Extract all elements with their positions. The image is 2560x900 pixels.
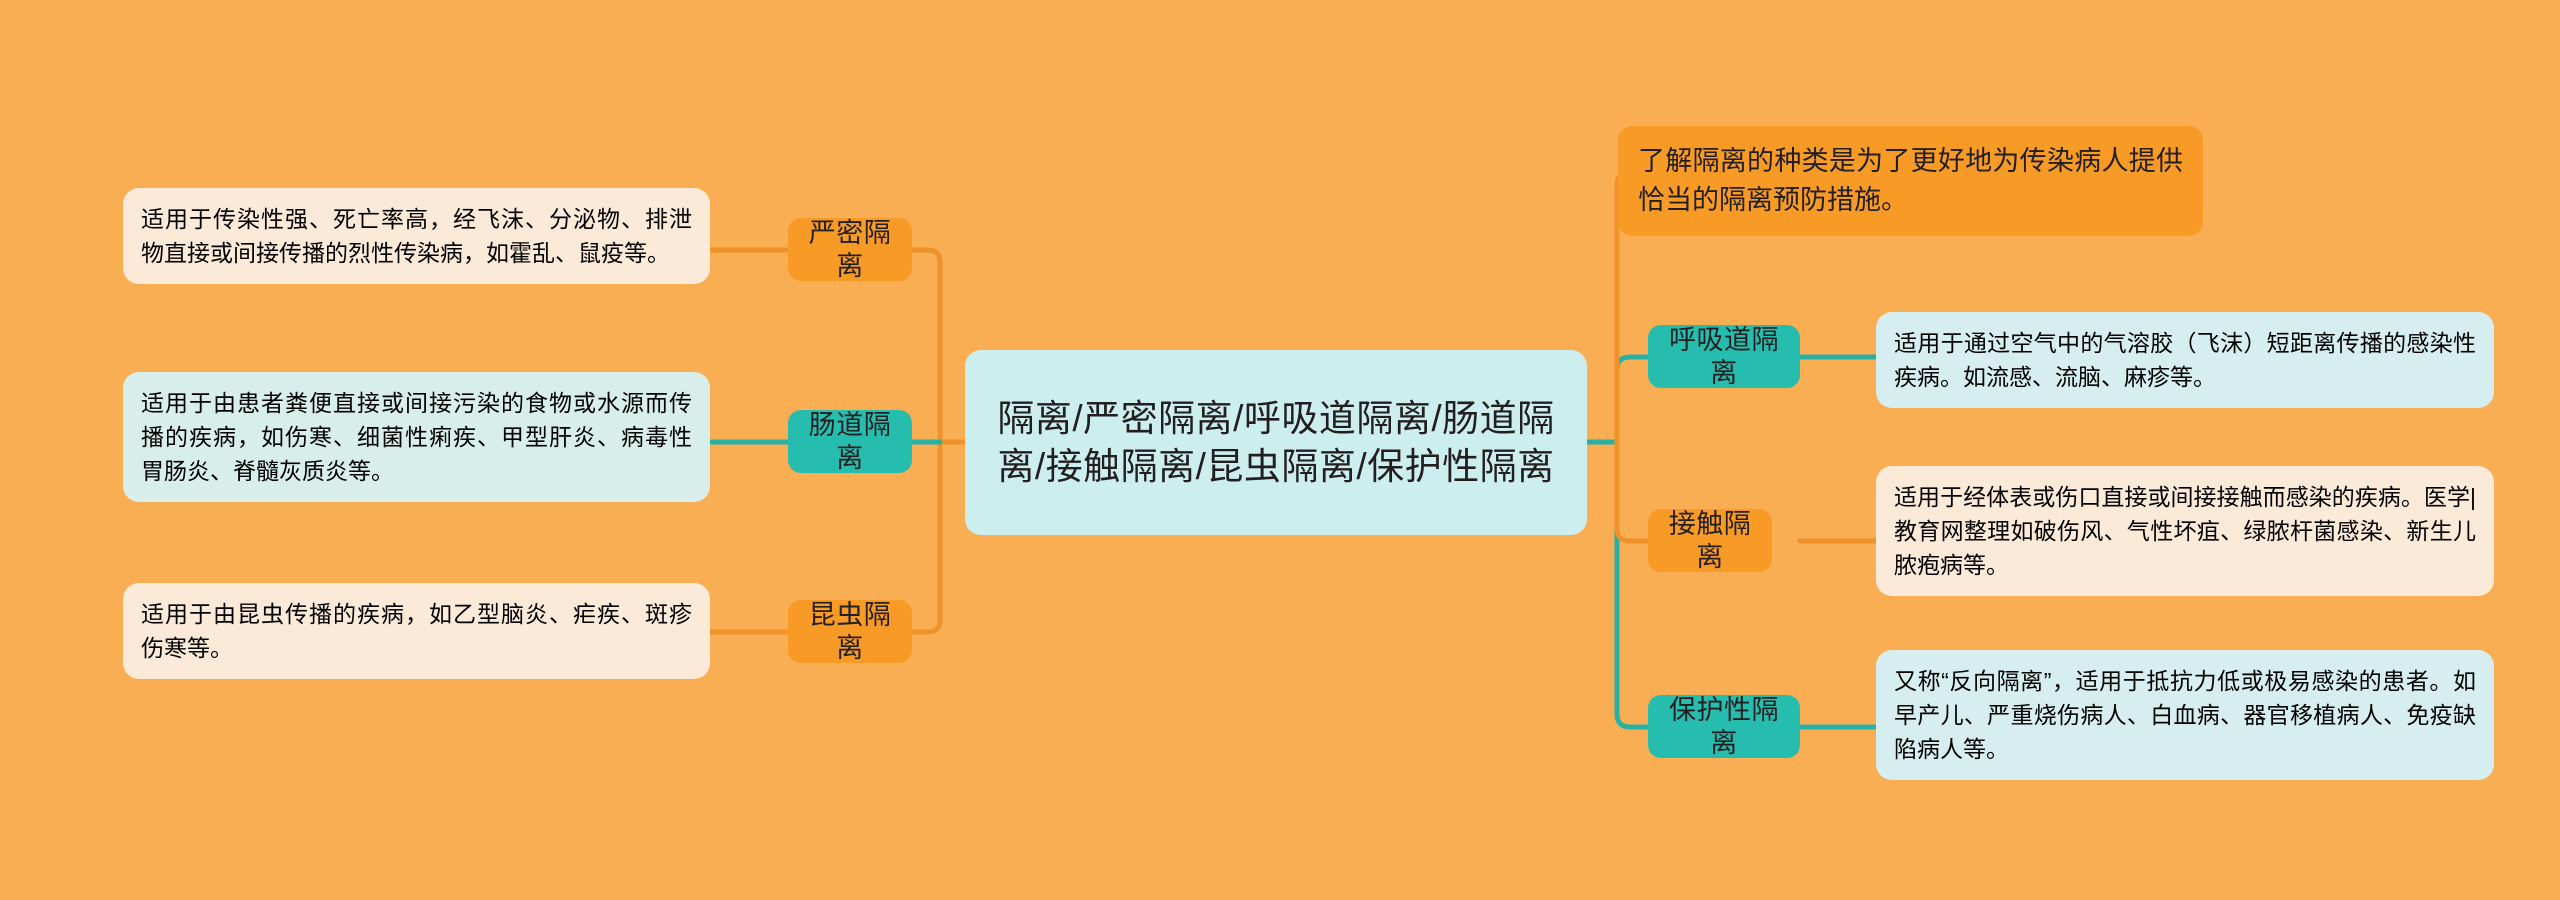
note-text-intro: 了解隔离的种类是为了更好地为传染病人提供恰当的隔离预防措施。 [1638, 146, 2183, 215]
detail-text-changdao: 适用于由患者粪便直接或间接污染的食物或水源而传播的疾病，如伤寒、细菌性痢疾、甲型… [141, 390, 692, 484]
detail-node-huxidao[interactable]: 适用于通过空气中的气溶胶（飞沫）短距离传播的感染性疾病。如流感、流脑、麻疹等。 [1876, 312, 2494, 408]
detail-text-huxidao: 适用于通过空气中的气溶胶（飞沫）短距离传播的感染性疾病。如流感、流脑、麻疹等。 [1894, 330, 2476, 390]
detail-text-jiechu: 适用于经体表或伤口直接或间接接触而感染的疾病。医学|教育网整理如破伤风、气性坏疽… [1894, 484, 2476, 578]
branch-label-yanmi: 严密隔离 [802, 217, 898, 282]
branch-node-yanmi[interactable]: 严密隔离 [788, 218, 912, 281]
branch-label-jiechu: 接触隔离 [1662, 508, 1758, 573]
mindmap-canvas: 隔离/严密隔离/呼吸道隔离/肠道隔离/接触隔离/昆虫隔离/保护性隔离 严密隔离 … [0, 0, 2560, 900]
branch-node-jiechu[interactable]: 接触隔离 [1648, 509, 1772, 572]
detail-text-yanmi: 适用于传染性强、死亡率高，经飞沫、分泌物、排泄物直接或间接传播的烈性传染病，如霍… [141, 206, 692, 266]
detail-text-baohuxing: 又称“反向隔离”，适用于抵抗力低或极易感染的患者。如早产儿、严重烧伤病人、白血病… [1894, 668, 2476, 762]
detail-node-baohuxing[interactable]: 又称“反向隔离”，适用于抵抗力低或极易感染的患者。如早产儿、严重烧伤病人、白血病… [1876, 650, 2494, 780]
branch-label-huxidao: 呼吸道隔离 [1662, 324, 1786, 389]
branch-node-baohuxing[interactable]: 保护性隔离 [1648, 695, 1800, 758]
center-node-label: 隔离/严密隔离/呼吸道隔离/肠道隔离/接触隔离/昆虫隔离/保护性隔离 [987, 395, 1565, 490]
detail-node-changdao[interactable]: 适用于由患者粪便直接或间接污染的食物或水源而传播的疾病，如伤寒、细菌性痢疾、甲型… [123, 372, 710, 502]
edge-center-to-huxidao [1617, 357, 1648, 442]
center-node[interactable]: 隔离/严密隔离/呼吸道隔离/肠道隔离/接触隔离/昆虫隔离/保护性隔离 [965, 350, 1587, 535]
branch-node-kunchong[interactable]: 昆虫隔离 [788, 600, 912, 663]
detail-text-kunchong: 适用于由昆虫传播的疾病，如乙型脑炎、疟疾、斑疹伤寒等。 [141, 601, 692, 661]
detail-node-kunchong[interactable]: 适用于由昆虫传播的疾病，如乙型脑炎、疟疾、斑疹伤寒等。 [123, 583, 710, 679]
edge-center-to-baohuxing [1617, 442, 1648, 727]
branch-label-changdao: 肠道隔离 [802, 409, 898, 474]
branch-label-baohuxing: 保护性隔离 [1662, 694, 1786, 759]
note-node-intro[interactable]: 了解隔离的种类是为了更好地为传染病人提供恰当的隔离预防措施。 [1618, 126, 2203, 236]
branch-label-kunchong: 昆虫隔离 [802, 599, 898, 664]
edge-center-to-kunchong [912, 442, 940, 632]
edge-center-to-yanmi [912, 250, 940, 442]
detail-node-yanmi[interactable]: 适用于传染性强、死亡率高，经飞沫、分泌物、排泄物直接或间接传播的烈性传染病，如霍… [123, 188, 710, 284]
detail-node-jiechu[interactable]: 适用于经体表或伤口直接或间接接触而感染的疾病。医学|教育网整理如破伤风、气性坏疽… [1876, 466, 2494, 596]
branch-node-huxidao[interactable]: 呼吸道隔离 [1648, 325, 1800, 388]
branch-node-changdao[interactable]: 肠道隔离 [788, 410, 912, 473]
edge-spine-to-jiechu [1617, 528, 1648, 541]
